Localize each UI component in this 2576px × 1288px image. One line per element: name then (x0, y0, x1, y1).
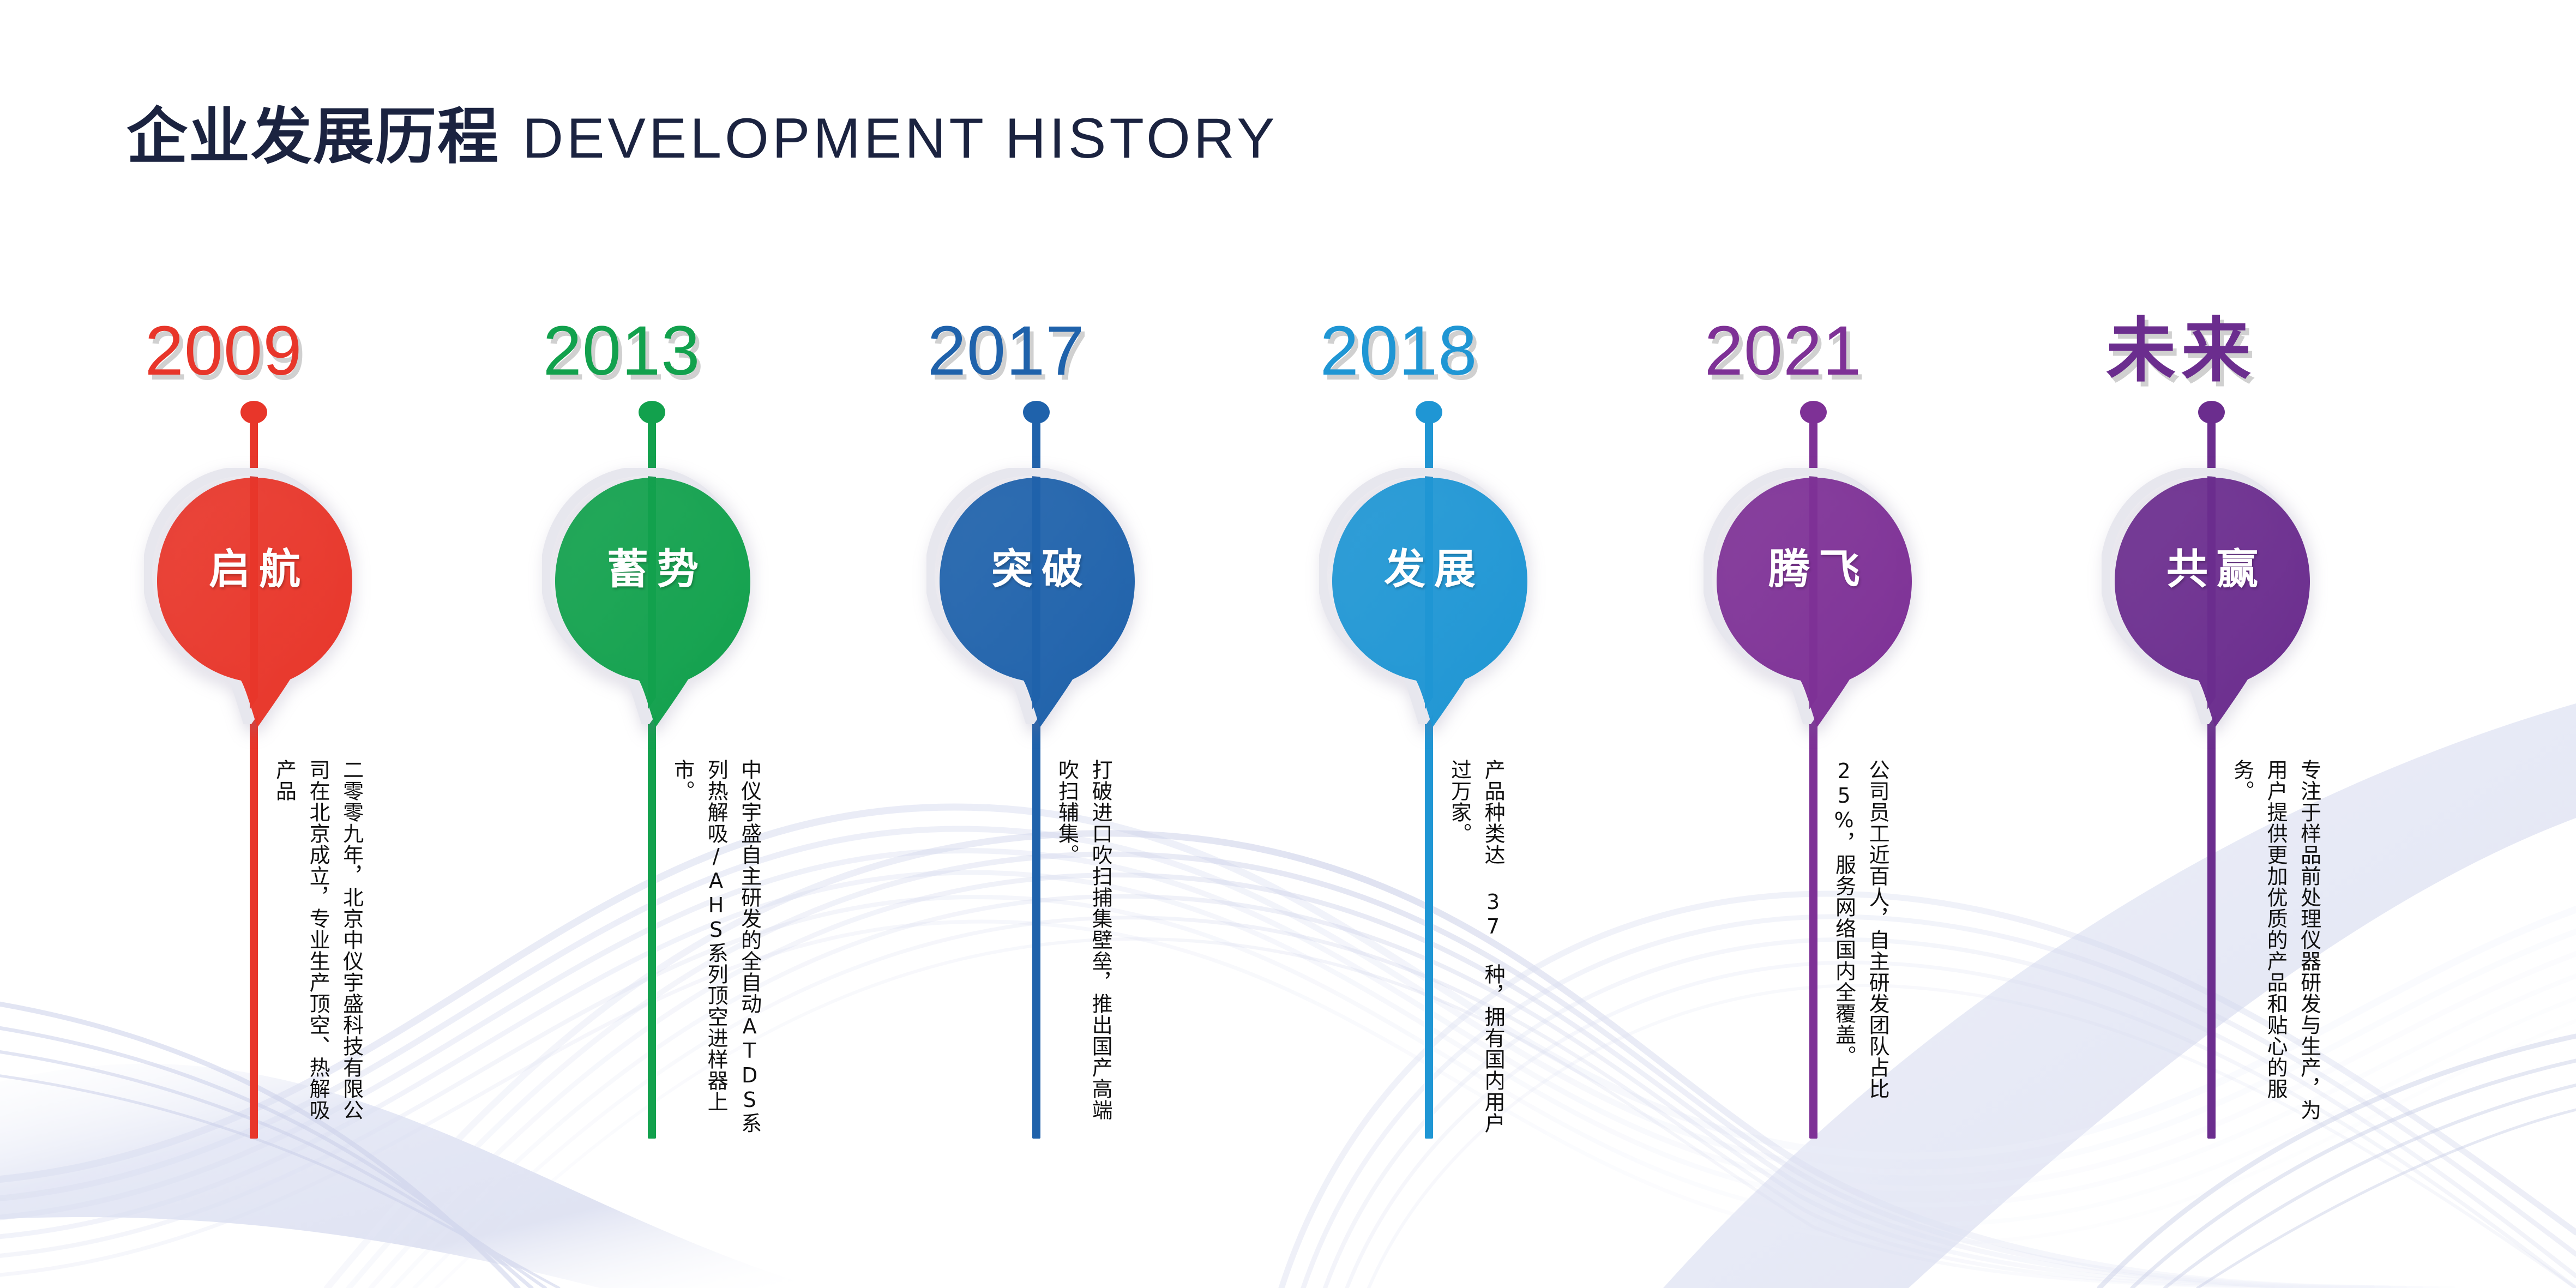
milestone-2009[interactable]: 2009启航二零零九年，北京中仪宇盛科技有限公司在北京成立，专业生产顶空、热解吸… (33, 0, 414, 1288)
milestone-description: 专注于样品前处理仪器研发与生产，为用户提供更加优质的产品和贴心的服务。 (2225, 759, 2326, 1135)
milestone-bubble[interactable]: 启航 (154, 474, 356, 731)
milestone-2013[interactable]: 2013蓄势中仪宇盛自主研发的全自动ATDS系列热解吸/AHS系列顶空进样器上市… (431, 0, 812, 1288)
milestone-description: 中仪宇盛自主研发的全自动ATDS系列热解吸/AHS系列顶空进样器上市。 (665, 759, 766, 1135)
timeline-node-dot-icon (1416, 401, 1442, 424)
timeline-node-dot-icon (639, 401, 665, 424)
milestone-未来[interactable]: 未来共赢专注于样品前处理仪器研发与生产，为用户提供更加优质的产品和贴心的服务。 (1990, 0, 2372, 1288)
timeline-node-dot-icon (1800, 401, 1827, 424)
development-history-infographic: 企业发展历程 DEVELOPMENT HISTORY 2009启航二零零九年，北… (0, 0, 2576, 1288)
timeline-node-dot-icon (1023, 401, 1050, 424)
milestone-2021[interactable]: 2021腾飞公司员工近百人，自主研发团队占比25%，服务网络国内全覆盖。 (1592, 0, 1974, 1288)
milestone-keyword: 突破 (936, 535, 1138, 595)
milestone-keyword: 启航 (154, 535, 356, 595)
milestone-bubble[interactable]: 发展 (1329, 474, 1531, 731)
milestone-bubble[interactable]: 蓄势 (552, 474, 754, 731)
bubble-body (154, 474, 356, 731)
milestone-keyword: 共赢 (2111, 535, 2313, 595)
milestone-bubble[interactable]: 腾飞 (1713, 474, 1915, 731)
milestone-description: 二零零九年，北京中仪宇盛科技有限公司在北京成立，专业生产顶空、热解吸产品 (267, 759, 368, 1135)
milestone-year-label: 2009 (33, 316, 414, 386)
bubble-body (2111, 474, 2313, 731)
milestone-year-label: 2021 (1592, 316, 1974, 386)
milestone-description: 产品种类达 37 种，拥有国内用户过万家。 (1442, 759, 1509, 1135)
timeline-node-dot-icon (240, 401, 267, 424)
bubble-body (552, 474, 754, 731)
milestone-bubble[interactable]: 共赢 (2111, 474, 2313, 731)
milestone-2018[interactable]: 2018发展产品种类达 37 种，拥有国内用户过万家。 (1208, 0, 1590, 1288)
milestone-2017[interactable]: 2017突破打破进口吹扫捕集壁垒，推出国产高端吹扫辅集。 (815, 0, 1197, 1288)
timeline-node-dot-icon (2198, 401, 2225, 424)
milestone-description: 打破进口吹扫捕集壁垒，推出国产高端吹扫辅集。 (1050, 759, 1117, 1135)
bubble-body (936, 474, 1138, 731)
milestone-keyword: 腾飞 (1713, 535, 1915, 595)
milestone-year-label: 未来 (1990, 316, 2372, 386)
milestone-keyword: 蓄势 (552, 535, 754, 595)
milestone-bubble[interactable]: 突破 (936, 474, 1138, 731)
bubble-body (1329, 474, 1531, 731)
milestone-year-label: 2017 (815, 316, 1197, 386)
bubble-body (1713, 474, 1915, 731)
milestone-description: 公司员工近百人，自主研发团队占比25%，服务网络国内全覆盖。 (1827, 759, 1894, 1135)
milestone-year-label: 2013 (431, 316, 812, 386)
timeline: 2009启航二零零九年，北京中仪宇盛科技有限公司在北京成立，专业生产顶空、热解吸… (0, 0, 2576, 1288)
milestone-keyword: 发展 (1329, 535, 1531, 595)
milestone-year-label: 2018 (1208, 316, 1590, 386)
